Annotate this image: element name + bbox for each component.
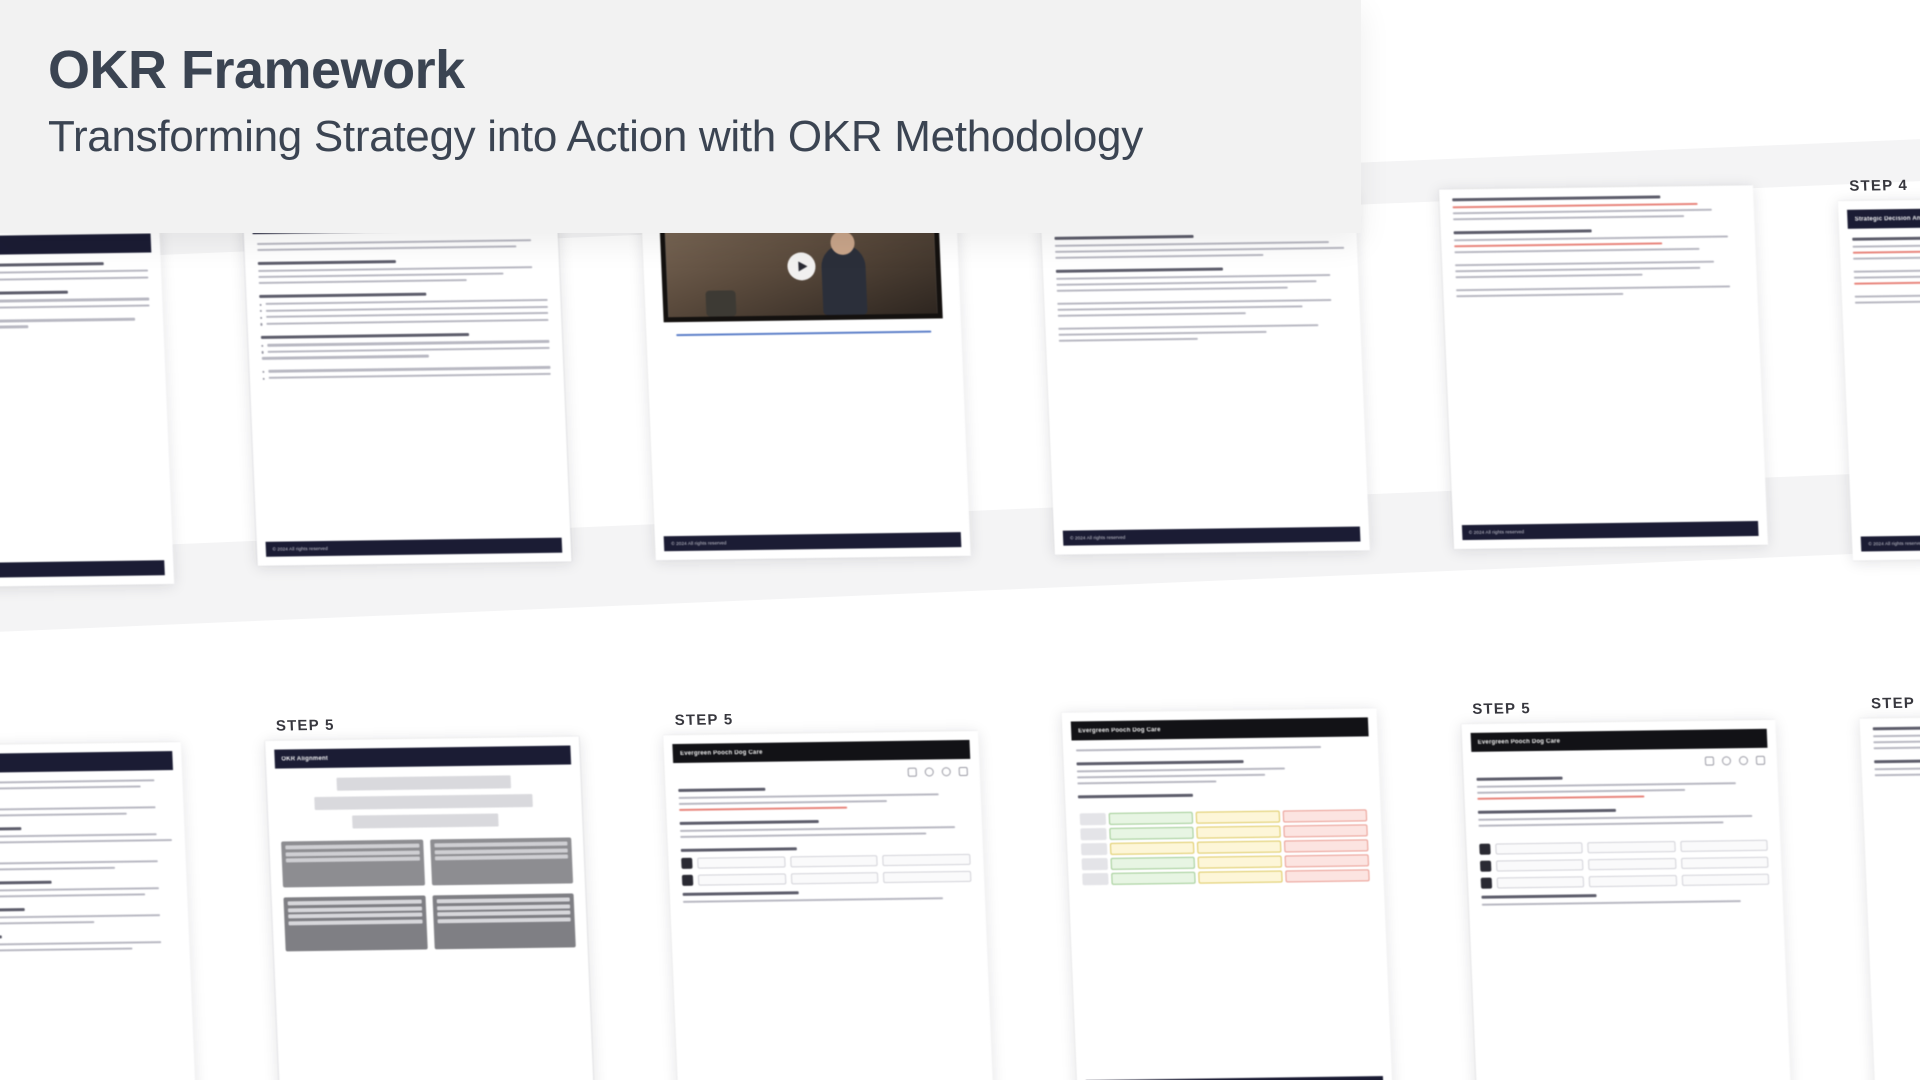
bullet-icon — [259, 303, 261, 305]
bullet-icon — [260, 323, 262, 325]
input-field[interactable] — [1496, 876, 1584, 888]
matrix-cell-green[interactable] — [1109, 812, 1193, 825]
input-field[interactable] — [698, 873, 786, 885]
page-title: OKR Framework — [48, 42, 1361, 99]
doc-page: Proven Strategic Plans — [0, 224, 174, 588]
matrix-row-label — [1080, 813, 1107, 825]
toolbar-square-icon[interactable] — [1756, 756, 1765, 765]
doc-footer-bar: © 2024 All rights reserved — [1861, 532, 1920, 551]
doc-page: Evergreen Pooch Dog Care — [663, 731, 994, 1080]
chair-shape — [705, 290, 736, 316]
input-field[interactable] — [1588, 858, 1676, 870]
step-label: STEP 5 — [0, 719, 180, 740]
bullet-icon — [260, 317, 262, 319]
input-field[interactable] — [697, 856, 785, 868]
matrix-cell-yellow[interactable] — [1197, 855, 1281, 868]
bullet-icon — [262, 371, 264, 373]
matrix-row — [1080, 824, 1367, 840]
matrix-cell-yellow[interactable] — [1197, 840, 1281, 853]
doc-footer-bar: © 2024 All rights reserved — [0, 560, 164, 579]
doc-body — [1839, 225, 1920, 305]
field-row — [681, 854, 970, 869]
matrix-cell-red[interactable] — [1284, 839, 1368, 852]
bullet-icon — [261, 345, 263, 347]
input-field[interactable] — [1680, 840, 1768, 852]
step-label — [1450, 179, 1753, 183]
step-label: STEP 5 — [276, 713, 579, 734]
doc-body — [1063, 736, 1380, 798]
diagram-bar — [314, 794, 533, 810]
doc-footer-text: © 2024 All rights reserved — [671, 540, 727, 546]
diagram-node — [432, 893, 576, 949]
doc-footer-text: © 2024 All rights reserved — [272, 546, 328, 552]
doc-page: Strategic Decision Analysis © 2024 All r… — [1838, 197, 1920, 561]
matrix-cell-yellow[interactable] — [1110, 842, 1194, 855]
input-field[interactable] — [883, 854, 971, 866]
play-triangle-icon — [798, 261, 807, 271]
gallery-grid: STEP 4 Proven Strategic Plans — [0, 148, 1920, 1080]
diagram-node — [283, 895, 427, 951]
input-field[interactable] — [1682, 874, 1770, 886]
field-row — [1479, 840, 1768, 855]
row-handle[interactable] — [1480, 878, 1491, 889]
matrix-row — [1081, 854, 1368, 870]
matrix-cell-red[interactable] — [1285, 869, 1369, 882]
input-field[interactable] — [1495, 842, 1583, 854]
step-label: STEP 5 — [1472, 697, 1775, 718]
title-overlay-panel: OKR Framework Transforming Strategy into… — [0, 0, 1361, 233]
bullet-icon — [261, 351, 263, 353]
step-label: STEP 5 — [674, 708, 977, 729]
doc-footer-bar: © 2024 All rights reserved — [664, 532, 961, 551]
doc-body — [243, 230, 564, 380]
doc-body — [0, 252, 163, 336]
input-field[interactable] — [1589, 875, 1677, 887]
field-row — [1480, 857, 1769, 872]
step-label — [1073, 702, 1376, 706]
input-field[interactable] — [1681, 857, 1769, 869]
diagram-row — [283, 893, 576, 951]
doc-page: © 2024 All rights reserved — [641, 196, 971, 560]
doc-title: OKR Alignment — [281, 755, 328, 762]
diagram-bar — [336, 775, 511, 790]
priority-matrix — [1065, 799, 1383, 885]
person-figure — [821, 245, 868, 316]
row-handle[interactable] — [682, 875, 693, 886]
page-subtitle: Transforming Strategy into Action with O… — [48, 113, 1361, 161]
matrix-cell-red[interactable] — [1284, 854, 1368, 867]
toolbar-circle-icon[interactable] — [1739, 756, 1748, 765]
doc-card[interactable]: STEP 4 Strategic Decision Analysis — [1824, 148, 1920, 552]
doc-body — [665, 776, 985, 904]
matrix-cell-yellow[interactable] — [1196, 825, 1280, 838]
matrix-cell-yellow[interactable] — [1196, 811, 1280, 824]
doc-page: Evergreen Pooch Dog Care — [1061, 708, 1392, 1080]
input-field[interactable] — [790, 855, 878, 867]
matrix-row-label — [1080, 828, 1107, 840]
diagram-node — [430, 837, 574, 885]
row-handle[interactable] — [1479, 844, 1490, 855]
doc-footer-text: © 2024 All rights reserved — [1868, 541, 1920, 547]
matrix-cell-red[interactable] — [1283, 824, 1367, 837]
doc-card[interactable]: STEP 4 Proven Strategic Plans — [0, 175, 174, 579]
toolbar-circle-icon[interactable] — [942, 767, 951, 776]
doc-card[interactable]: Evergreen Pooch Dog Care — [1048, 676, 1392, 1080]
doc-card[interactable]: STEP 5 OKR Alignment — [250, 687, 594, 1080]
input-field[interactable] — [883, 871, 971, 883]
matrix-cell-green[interactable] — [1111, 872, 1195, 885]
doc-card[interactable]: STEP 5 © 2024 All rights reserved — [1846, 665, 1920, 1069]
doc-card[interactable]: STEP 5 Evergreen Pooch Dog Care — [1447, 671, 1791, 1075]
row-handle[interactable] — [1480, 861, 1491, 872]
doc-page: OKR Alignment — [265, 736, 596, 1080]
matrix-row — [1080, 809, 1367, 825]
org-diagram — [266, 764, 588, 951]
matrix-row — [1082, 869, 1369, 885]
doc-body — [1438, 185, 1757, 298]
doc-title: Evergreen Pooch Dog Care — [680, 749, 763, 756]
matrix-cell-yellow[interactable] — [1198, 870, 1282, 883]
doc-footer-bar: © 2024 All rights reserved — [1086, 1076, 1383, 1080]
doc-title: Evergreen Pooch Dog Care — [1478, 738, 1561, 745]
diagram-row — [281, 837, 574, 887]
doc-page: Breakthrough Leadership — [242, 202, 572, 566]
matrix-row-label — [1082, 873, 1109, 885]
toolbar-square-icon[interactable] — [1705, 757, 1714, 766]
bullet-icon — [262, 377, 264, 379]
doc-page: Evergreen Pooch Dog Care — [1461, 720, 1792, 1080]
doc-page: © 2024 All rights reserved — [1040, 191, 1370, 555]
input-field[interactable] — [1587, 841, 1675, 853]
doc-header-bar: Strategic Decision Analysis — [1847, 206, 1920, 229]
matrix-row-label — [1081, 858, 1108, 870]
play-button-icon[interactable] — [787, 252, 816, 280]
matrix-row-label — [1081, 843, 1108, 855]
step-label: STEP 5 — [1871, 691, 1920, 712]
doc-footer-bar: © 2024 All rights reserved — [1462, 521, 1759, 540]
diagram-bar — [352, 813, 498, 828]
doc-page: Evaluating Tradeoffs — [0, 742, 197, 1080]
matrix-row — [1081, 839, 1368, 855]
doc-page: © 2024 All rights reserved — [1438, 185, 1768, 549]
doc-card[interactable]: STEP 5 Evergreen Pooch Dog Care — [649, 682, 993, 1080]
doc-title: Evergreen Pooch Dog Care — [1078, 727, 1161, 734]
matrix-cell-green[interactable] — [1110, 857, 1194, 870]
doc-footer-bar: © 2024 All rights reserved — [265, 538, 562, 557]
matrix-cell-green[interactable] — [1109, 827, 1193, 840]
doc-footer-bar: © 2024 All rights reserved — [1063, 527, 1360, 546]
doc-card[interactable]: STEP 5 Evaluating Tradeoffs — [0, 693, 195, 1080]
toolbar-circle-icon[interactable] — [925, 767, 934, 776]
row-handle[interactable] — [681, 858, 692, 869]
doc-body — [1860, 714, 1920, 777]
matrix-cell-red[interactable] — [1282, 809, 1366, 822]
doc-body — [0, 770, 189, 953]
page-root: STEP 4 Proven Strategic Plans — [0, 0, 1920, 1080]
toolbar-square-icon[interactable] — [959, 767, 968, 776]
doc-page: © 2024 All rights reserved — [1860, 714, 1920, 1080]
input-field[interactable] — [1496, 859, 1584, 871]
bullet-icon — [259, 310, 261, 312]
doc-footer-text: © 2024 All rights reserved — [1070, 535, 1126, 541]
toolbar-square-icon[interactable] — [908, 768, 917, 777]
step-label: STEP 4 — [1849, 174, 1920, 195]
diagram-node — [281, 840, 425, 888]
toolbar-circle-icon[interactable] — [1722, 756, 1731, 765]
doc-footer-text: © 2024 All rights reserved — [1469, 529, 1525, 535]
input-field[interactable] — [791, 872, 879, 884]
doc-title: Strategic Decision Analysis — [1855, 215, 1920, 222]
video-caption-link[interactable] — [677, 331, 932, 337]
doc-card[interactable]: © 2024 All rights reserved — [1425, 153, 1769, 557]
doc-body — [1463, 765, 1784, 907]
